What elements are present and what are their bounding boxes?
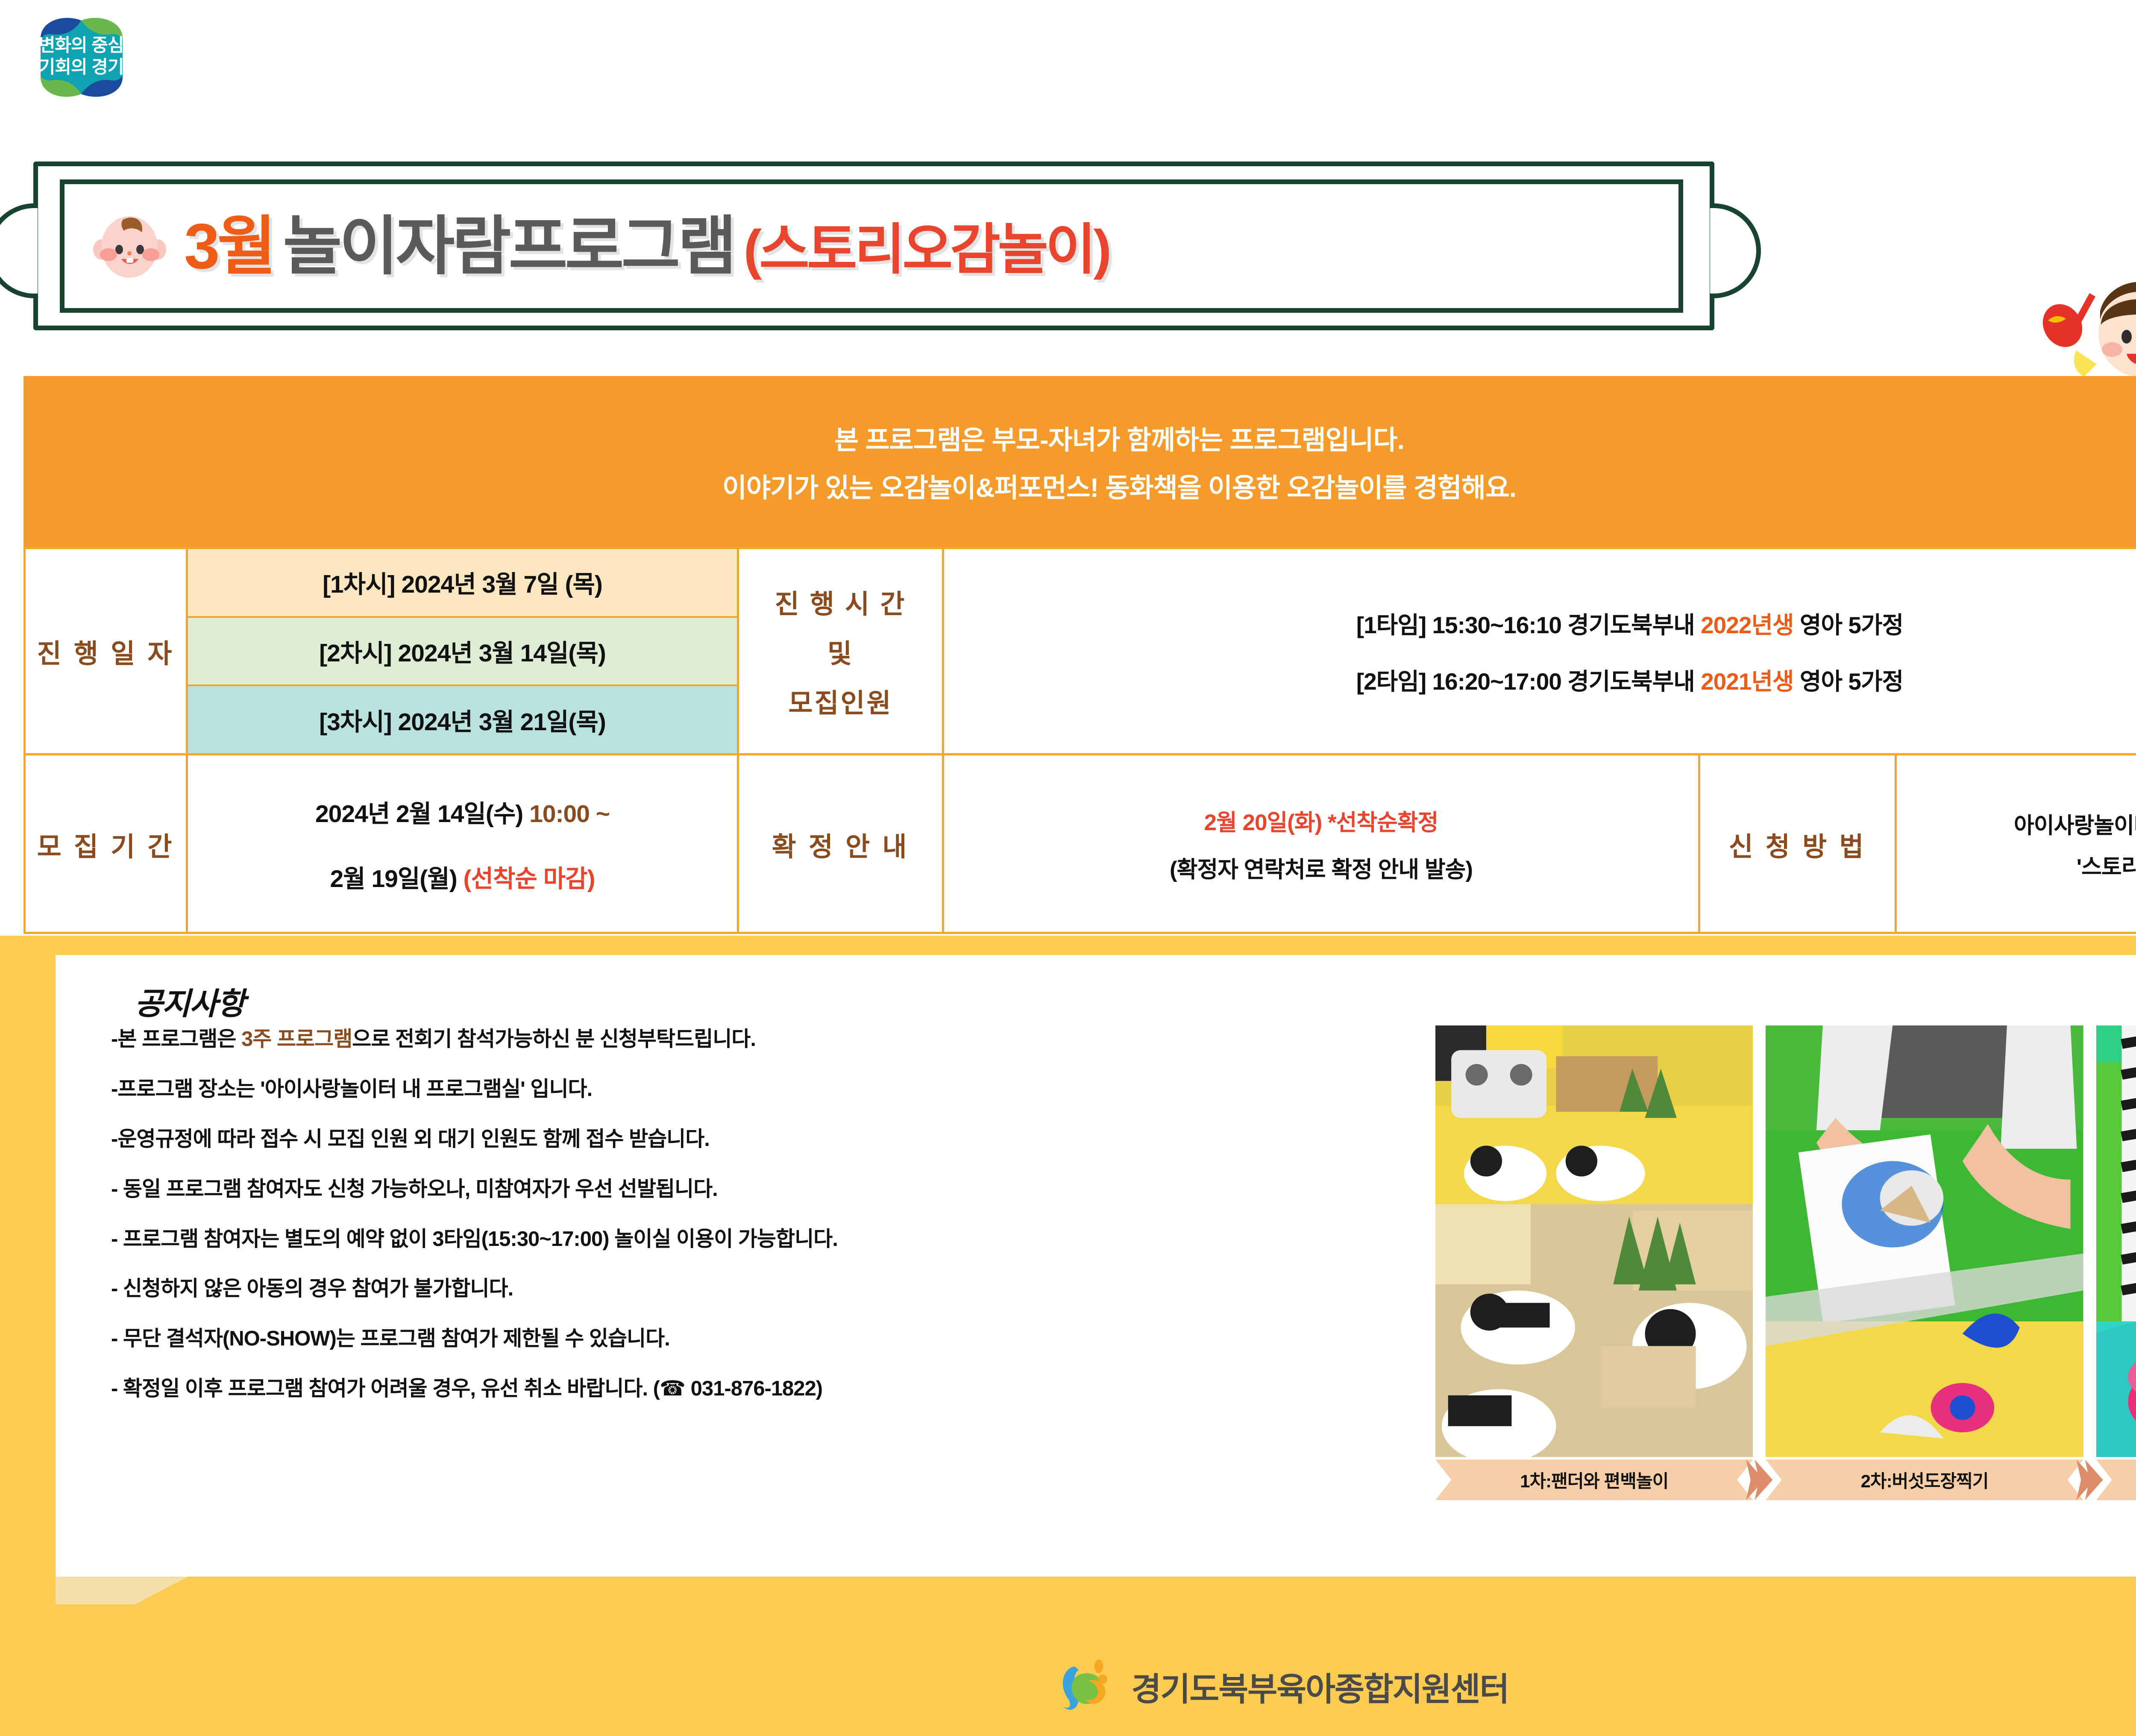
time-slot-2-suffix: 영아 5가정 xyxy=(1794,668,1904,695)
time-slot-2-prefix: [2타임] 16:20~17:00 경기도북부내 xyxy=(1356,668,1701,695)
photo-caption-3: 3차:애벌레야 놀자 xyxy=(2096,1460,2136,1500)
time-header-line3: 모집인원 xyxy=(788,681,892,720)
notice-item-1: -프로그램 장소는 '아이사랑놀이터 내 프로그램실' 입니다. xyxy=(111,1078,1350,1101)
program-info-table: 진 행 일 자 [1차시] 2024년 3월 7일 (목) [2차시] 2024… xyxy=(23,547,2136,934)
photo-column-2: 2차:버섯도장찍기 xyxy=(1766,1025,2083,1530)
session-1: [1차시] 2024년 3월 7일 (목) xyxy=(188,549,737,616)
caption-wrap-3: 3차:애벌레야 놀자 xyxy=(2096,1460,2136,1500)
apply-value: 아이사랑놀이터 홈페이지 〉프로그램 신청 〉 '스토리오감프로그램' 목록 선… xyxy=(1897,755,2136,933)
time-header-line1: 진 행 시 간 xyxy=(775,582,907,621)
photo-caption-1: 1차:팬더와 편백놀이 xyxy=(1435,1460,1753,1500)
time-header-line2: 및 xyxy=(827,632,854,670)
notice-item-0-post: 으로 전회기 참석가능하신 분 신청부탁드립니다. xyxy=(352,1028,756,1051)
notice-item-6: - 무단 결석자(NO-SHOW)는 프로그램 참여가 제한될 수 있습니다. xyxy=(111,1327,1350,1351)
apply-line-2: '스토리오감프로그램' 목록 선택 xyxy=(2077,849,2136,881)
period-value: 2024년 2월 14일(수) 10:00 ~ 2월 19일(월) (선착순 마… xyxy=(188,755,739,933)
caption-wrap-1: 1차:팬더와 편백놀이 xyxy=(1435,1460,1753,1500)
title-main: 놀이자람프로그램 xyxy=(283,214,734,278)
notice-heading: 공지사항 xyxy=(135,978,244,1023)
time-slot-1: [1타임] 15:30~16:10 경기도북부내 2022년생 영아 5가정 xyxy=(1356,606,1903,640)
session-3: [3차시] 2024년 3월 21일(목) xyxy=(188,686,737,753)
gyeonggi-logo-line1: 변화의 중심 xyxy=(23,34,139,56)
time-slot-2: [2타임] 16:20~17:00 경기도북부내 2021년생 영아 5가정 xyxy=(1356,662,1903,696)
intro-banner: 본 프로그램은 부모-자녀가 함께하는 프로그램입니다. 이야기가 있는 오감놀… xyxy=(23,376,2136,547)
period-end-date: 2월 19일(월) xyxy=(330,865,463,893)
photo-1 xyxy=(1435,1025,1753,1457)
table-row-schedule: 진 행 일 자 [1차시] 2024년 3월 7일 (목) [2차시] 2024… xyxy=(26,549,2136,753)
caption-wrap-2: 2차:버섯도장찍기 xyxy=(1766,1460,2083,1500)
footer-bar: 경기도북부육아종합지원센터 xyxy=(0,1636,2136,1736)
notice-item-4: - 프로그램 참여자는 별도의 예약 없이 3타임(15:30~17:00) 놀… xyxy=(111,1228,1350,1251)
notice-item-7: - 확정일 이후 프로그램 참여가 어려울 경우, 유선 취소 바랍니다. (☎… xyxy=(111,1377,1350,1401)
notice-item-0-pre: -본 프로그램은 xyxy=(111,1028,241,1051)
photo-column-3: 3차:애벌레야 놀자 xyxy=(2096,1025,2136,1530)
footer-center-name: 경기도북부육아종합지원센터 xyxy=(1132,1663,1509,1710)
apply-header: 신 청 방 법 xyxy=(1700,755,1897,933)
table-row-registration: 모 집 기 간 2024년 2월 14일(수) 10:00 ~ 2월 19일(월… xyxy=(26,753,2136,933)
notice-item-2: -운영규정에 따라 접수 시 모집 인원 외 대기 인원도 함께 접수 받습니다… xyxy=(111,1128,1350,1151)
notice-list: -본 프로그램은 3주 프로그램으로 전회기 참석가능하신 분 신청부탁드립니다… xyxy=(111,1028,1350,1427)
title-frame-inner: 3월 놀이자람프로그램 (스토리오감놀이) xyxy=(60,179,1683,313)
period-line-2: 2월 19일(월) (선착순 마감) xyxy=(330,859,595,894)
notice-heading-text: 공지사항 xyxy=(135,987,244,1021)
confirm-header: 확 정 안 내 xyxy=(739,755,944,933)
time-slot-1-suffix: 영아 5가정 xyxy=(1794,612,1904,638)
photo-2 xyxy=(1766,1025,2083,1457)
confirm-line-1: 2월 20일(화) *선착순확정 xyxy=(1204,805,1438,837)
date-header: 진 행 일 자 xyxy=(26,549,188,753)
photo-caption-2: 2차:버섯도장찍기 xyxy=(1766,1460,2083,1500)
time-capacity-header: 진 행 시 간 및 모집인원 xyxy=(739,549,944,753)
period-note: (선착순 마감) xyxy=(464,865,595,893)
confirm-line-2: (확정자 연락처로 확정 안내 발송) xyxy=(1170,852,1473,884)
photo-column-1: 1차:팬더와 편백놀이 xyxy=(1435,1025,1753,1530)
gyeonggi-province-logo: 변화의 중심 기회의 경기 xyxy=(23,13,139,100)
page-title: 3월 놀이자람프로그램 (스토리오감놀이) xyxy=(184,214,1109,278)
session-list: [1차시] 2024년 3월 7일 (목) [2차시] 2024년 3월 14일… xyxy=(188,549,739,753)
confirm-value: 2월 20일(화) *선착순확정 (확정자 연락처로 확정 안내 발송) xyxy=(944,755,1700,933)
apply-line-1: 아이사랑놀이터 홈페이지 〉프로그램 신청 〉 xyxy=(2014,808,2136,840)
notice-card: 공지사항 -본 프로그램은 3주 프로그램으로 전회기 참석가능하신 분 신청부… xyxy=(56,955,2136,1577)
poster-root: 변화의 중심 기회의 경기 ♥ 아 이 사 랑 놀 이 터 xyxy=(0,0,2136,1736)
time-slot-2-year: 2021년생 xyxy=(1701,668,1794,695)
time-slot-1-prefix: [1타임] 15:30~16:10 경기도북부내 xyxy=(1356,612,1701,638)
title-month: 3월 xyxy=(184,214,273,278)
baby-face-icon xyxy=(92,210,167,282)
notice-item-3: - 동일 프로그램 참여자도 신청 가능하오나, 미참여자가 우선 선발됩니다. xyxy=(111,1178,1350,1201)
time-slot-1-year: 2022년생 xyxy=(1701,612,1794,638)
center-swirl-logo xyxy=(1055,1659,1119,1714)
period-start-date: 2024년 2월 14일(수) xyxy=(315,800,529,828)
title-subtitle: (스토리오감놀이) xyxy=(743,223,1109,277)
gyeonggi-logo-line2: 기회의 경기 xyxy=(23,56,139,78)
session-2: [2차시] 2024년 3월 14일(목) xyxy=(188,616,737,687)
period-start-time: 10:00 ~ xyxy=(529,800,610,828)
gyeonggi-logo-text: 변화의 중심 기회의 경기 xyxy=(23,34,139,78)
notice-item-0-hl: 3주 프로그램 xyxy=(241,1028,352,1051)
period-line-1: 2024년 2월 14일(수) 10:00 ~ xyxy=(315,794,610,829)
intro-line-1: 본 프로그램은 부모-자녀가 함께하는 프로그램입니다. xyxy=(834,418,1404,457)
intro-line-2: 이야기가 있는 오감놀이&퍼포먼스! 동화책을 이용한 오감놀이를 경험해요. xyxy=(722,466,1516,505)
photo-3 xyxy=(2096,1025,2136,1457)
notice-item-5: - 신청하지 않은 아동의 경우 참여가 불가합니다. xyxy=(111,1277,1350,1301)
time-slot-list: [1타임] 15:30~16:10 경기도북부내 2022년생 영아 5가정 [… xyxy=(944,549,2136,753)
photo-gallery: 1차:팬더와 편백놀이 xyxy=(1435,1025,2136,1530)
period-header: 모 집 기 간 xyxy=(26,755,188,933)
notice-item-0: -본 프로그램은 3주 프로그램으로 전회기 참석가능하신 분 신청부탁드립니다… xyxy=(111,1028,1350,1051)
